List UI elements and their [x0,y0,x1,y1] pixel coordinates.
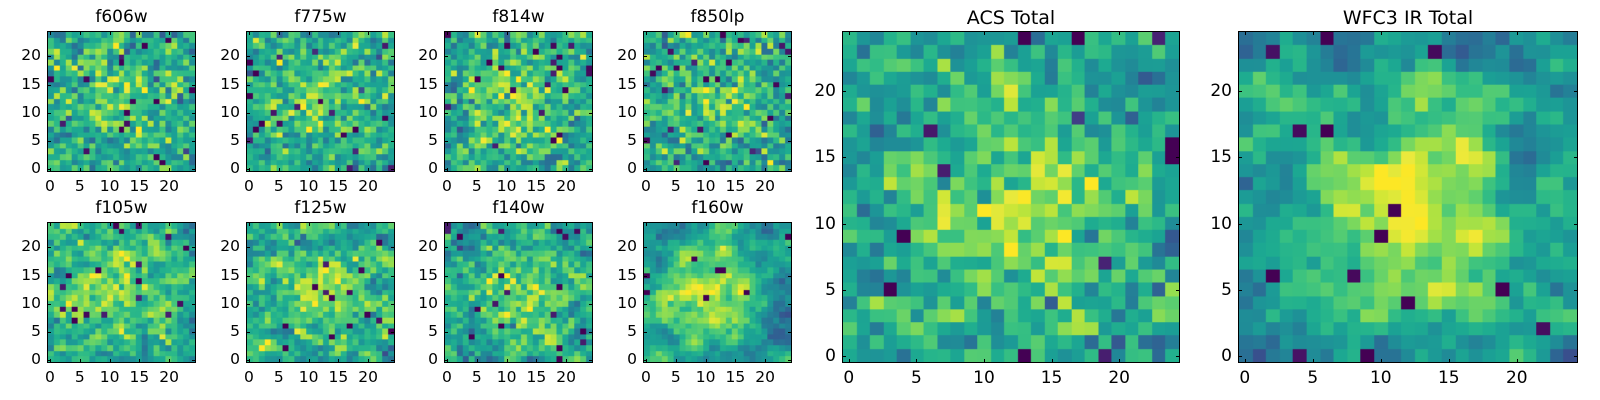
x-tick-label: 0 [829,370,869,387]
x-tick-mark [1052,359,1053,363]
y-tick-mark [47,141,51,142]
x-tick-label: 10 [1361,370,1401,387]
x-tick-mark [735,359,736,363]
y-tick-label: 15 [201,77,240,93]
y-tick-label: 0 [201,352,240,368]
y-tick-mark [589,113,593,114]
x-tick-mark [338,222,339,226]
y-tick-mark [47,332,51,333]
y-tick-label: 0 [598,161,637,177]
y-tick-mark [1176,356,1180,357]
y-tick-label: 10 [598,105,637,121]
x-tick-mark [1119,359,1120,363]
y-tick-mark [1238,91,1242,92]
x-tick-mark [80,359,81,363]
y-tick-mark [444,85,448,86]
x-tick-label: 20 [348,179,388,195]
panel-title-f125w: f125w [246,200,395,217]
panel-f606w: f606w0510152005101520 [2,5,211,206]
x-tick-mark [169,359,170,363]
y-tick-mark [788,56,792,57]
x-tick-label: 5 [1293,370,1333,387]
panel-title-f850lp: f850lp [643,9,792,26]
x-tick-mark [706,31,707,35]
y-tick-mark [391,56,395,57]
y-tick-mark [842,290,846,291]
y-tick-mark [391,276,395,277]
x-tick-mark [984,359,985,363]
y-tick-mark [47,247,51,248]
panel-title-f606w: f606w [47,9,196,26]
x-tick-mark [169,222,170,226]
y-tick-mark [643,141,647,142]
x-tick-mark [1517,31,1518,35]
y-tick-label: 15 [1193,149,1232,166]
y-tick-mark [643,304,647,305]
heatmap-axes-f814w[interactable] [444,31,593,172]
x-tick-mark [80,168,81,172]
y-tick-mark [47,85,51,86]
y-tick-mark [192,169,196,170]
x-tick-mark [916,31,917,35]
y-tick-label: 20 [2,48,41,64]
y-tick-mark [589,360,593,361]
y-tick-mark [788,113,792,114]
x-tick-label: 10 [964,370,1004,387]
x-tick-mark [477,168,478,172]
x-tick-label: 15 [1032,370,1072,387]
x-tick-mark [477,31,478,35]
heatmap-axes-acs-total[interactable] [842,31,1180,363]
heatmap-axes-f105w[interactable] [47,222,196,363]
y-tick-label: 15 [598,77,637,93]
x-tick-mark [309,359,310,363]
y-tick-mark [246,169,250,170]
x-tick-mark [279,168,280,172]
x-tick-mark [646,222,647,226]
y-tick-mark [444,360,448,361]
x-tick-mark [80,222,81,226]
x-tick-mark [279,222,280,226]
y-tick-mark [444,304,448,305]
y-tick-mark [444,276,448,277]
panel-f775w: f775w0510152005101520 [201,5,410,206]
x-tick-label: 20 [1099,370,1139,387]
y-tick-mark [1238,157,1242,158]
y-tick-label: 10 [1193,216,1232,233]
x-tick-mark [110,359,111,363]
x-tick-mark [646,31,647,35]
x-tick-mark [368,359,369,363]
y-tick-mark [589,169,593,170]
y-tick-mark [788,169,792,170]
y-tick-label: 5 [797,282,836,299]
y-tick-mark [246,360,250,361]
x-tick-mark [309,168,310,172]
y-tick-label: 20 [797,83,836,100]
y-tick-mark [643,113,647,114]
panel-f125w: f125w0510152005101520 [201,196,410,397]
panel-wfc3-ir-total: WFC3 IR Total0510152005101520 [1193,5,1593,397]
y-tick-mark [192,141,196,142]
y-tick-label: 0 [797,348,836,365]
x-tick-mark [735,31,736,35]
x-tick-mark [676,222,677,226]
y-tick-mark [391,332,395,333]
panel-title-f775w: f775w [246,9,395,26]
x-tick-mark [1381,359,1382,363]
heatmap-axes-f775w[interactable] [246,31,395,172]
y-tick-mark [192,85,196,86]
y-tick-mark [192,56,196,57]
y-tick-mark [246,85,250,86]
x-tick-mark [1052,31,1053,35]
y-tick-mark [589,85,593,86]
x-tick-mark [1245,359,1246,363]
x-tick-mark [849,359,850,363]
x-tick-mark [249,222,250,226]
y-tick-label: 5 [598,324,637,340]
y-tick-label: 15 [399,77,438,93]
heatmap-axes-wfc3-ir-total[interactable] [1238,31,1578,363]
y-tick-mark [788,141,792,142]
y-tick-mark [842,157,846,158]
x-tick-mark [139,31,140,35]
x-tick-mark [706,222,707,226]
y-tick-mark [1574,290,1578,291]
x-tick-mark [566,359,567,363]
y-tick-label: 15 [2,268,41,284]
y-tick-mark [391,360,395,361]
x-tick-label: 20 [546,370,586,386]
y-tick-mark [589,304,593,305]
panel-title-f814w: f814w [444,9,593,26]
y-tick-label: 20 [598,239,637,255]
x-tick-mark [536,222,537,226]
y-tick-mark [246,113,250,114]
y-tick-mark [788,247,792,248]
x-tick-mark [309,222,310,226]
x-tick-mark [1449,359,1450,363]
y-tick-label: 10 [797,216,836,233]
y-tick-mark [47,56,51,57]
y-tick-mark [643,56,647,57]
y-tick-label: 10 [2,105,41,121]
x-tick-mark [1313,359,1314,363]
x-tick-mark [169,168,170,172]
x-tick-label: 20 [745,370,785,386]
y-tick-label: 20 [399,239,438,255]
x-tick-mark [338,168,339,172]
x-tick-label: 5 [896,370,936,387]
x-tick-label: 20 [149,179,189,195]
y-tick-label: 20 [201,239,240,255]
y-tick-label: 10 [598,296,637,312]
x-tick-mark [1245,31,1246,35]
y-tick-mark [391,169,395,170]
y-tick-label: 10 [399,296,438,312]
x-tick-mark [139,359,140,363]
y-tick-label: 5 [598,133,637,149]
y-tick-mark [246,56,250,57]
x-tick-mark [566,31,567,35]
x-tick-mark [368,168,369,172]
x-tick-mark [676,359,677,363]
y-tick-mark [246,332,250,333]
y-tick-mark [391,85,395,86]
y-tick-mark [192,332,196,333]
x-tick-mark [447,222,448,226]
y-tick-label: 0 [399,161,438,177]
y-tick-label: 15 [2,77,41,93]
y-tick-label: 5 [399,133,438,149]
x-tick-mark [249,31,250,35]
x-tick-mark [1449,31,1450,35]
x-tick-mark [1313,31,1314,35]
panel-title-acs-total: ACS Total [842,9,1180,28]
heatmap-axes-f606w[interactable] [47,31,196,172]
y-tick-mark [788,360,792,361]
x-tick-mark [110,31,111,35]
y-tick-mark [47,113,51,114]
y-tick-label: 5 [2,133,41,149]
y-tick-mark [842,91,846,92]
y-tick-mark [1238,356,1242,357]
y-tick-label: 10 [2,296,41,312]
y-tick-mark [1574,157,1578,158]
x-tick-mark [279,359,280,363]
x-tick-mark [916,359,917,363]
y-tick-label: 5 [2,324,41,340]
y-tick-label: 0 [1193,348,1232,365]
x-tick-mark [536,359,537,363]
y-tick-label: 15 [797,149,836,166]
panel-title-f140w: f140w [444,200,593,217]
x-tick-mark [765,168,766,172]
panel-title-wfc3-ir-total: WFC3 IR Total [1238,9,1578,28]
y-tick-mark [1176,157,1180,158]
y-tick-mark [1574,224,1578,225]
y-tick-mark [589,276,593,277]
y-tick-mark [192,276,196,277]
y-tick-label: 20 [598,48,637,64]
y-tick-mark [47,360,51,361]
y-tick-mark [246,247,250,248]
y-tick-mark [842,356,846,357]
x-tick-mark [50,31,51,35]
y-tick-mark [788,304,792,305]
y-tick-mark [192,360,196,361]
y-tick-label: 10 [399,105,438,121]
y-tick-mark [246,141,250,142]
y-tick-mark [643,247,647,248]
y-tick-mark [643,276,647,277]
y-tick-mark [643,169,647,170]
x-tick-mark [477,359,478,363]
y-tick-label: 10 [201,296,240,312]
y-tick-mark [842,224,846,225]
panel-f850lp: f850lp0510152005101520 [598,5,807,206]
x-tick-mark [507,31,508,35]
y-tick-mark [444,56,448,57]
x-tick-mark [1517,359,1518,363]
x-tick-label: 20 [149,370,189,386]
x-tick-mark [676,168,677,172]
y-tick-mark [47,169,51,170]
panel-f160w: f160w0510152005101520 [598,196,807,397]
y-tick-mark [246,304,250,305]
x-tick-mark [706,168,707,172]
x-tick-mark [279,31,280,35]
y-tick-mark [391,113,395,114]
panel-title-f105w: f105w [47,200,196,217]
x-tick-mark [566,168,567,172]
y-tick-mark [391,304,395,305]
y-tick-label: 0 [2,352,41,368]
x-tick-mark [139,168,140,172]
x-tick-label: 15 [1429,370,1469,387]
y-tick-label: 20 [2,239,41,255]
heatmap-axes-f850lp[interactable] [643,31,792,172]
heatmap-axes-f160w[interactable] [643,222,792,363]
x-tick-mark [338,31,339,35]
panel-title-f160w: f160w [643,200,792,217]
y-tick-mark [589,56,593,57]
y-tick-mark [589,332,593,333]
x-tick-mark [338,359,339,363]
x-tick-mark [735,168,736,172]
y-tick-label: 20 [399,48,438,64]
y-tick-label: 15 [201,268,240,284]
y-tick-label: 5 [201,324,240,340]
x-tick-mark [477,222,478,226]
y-tick-label: 5 [399,324,438,340]
y-tick-mark [47,304,51,305]
panel-f140w: f140w0510152005101520 [399,196,608,397]
x-tick-mark [80,31,81,35]
x-tick-mark [507,359,508,363]
y-tick-mark [444,247,448,248]
x-tick-mark [139,222,140,226]
y-tick-label: 20 [1193,83,1232,100]
x-tick-label: 20 [348,370,388,386]
y-tick-label: 0 [598,352,637,368]
y-tick-mark [1574,91,1578,92]
panel-f105w: f105w0510152005101520 [2,196,211,397]
y-tick-label: 0 [399,352,438,368]
x-tick-mark [984,31,985,35]
x-tick-mark [507,222,508,226]
panel-acs-total: ACS Total0510152005101520 [797,5,1195,397]
y-tick-label: 15 [399,268,438,284]
y-tick-mark [643,360,647,361]
y-tick-label: 0 [201,161,240,177]
y-tick-mark [1574,356,1578,357]
heatmap-axes-f140w[interactable] [444,222,593,363]
y-tick-mark [1238,224,1242,225]
x-tick-mark [566,222,567,226]
y-tick-mark [788,85,792,86]
x-tick-mark [765,359,766,363]
x-tick-mark [536,168,537,172]
y-tick-label: 20 [201,48,240,64]
y-tick-mark [1176,224,1180,225]
x-tick-label: 20 [745,179,785,195]
y-tick-label: 10 [201,105,240,121]
y-tick-mark [192,247,196,248]
y-tick-label: 5 [201,133,240,149]
x-tick-mark [1381,31,1382,35]
y-tick-mark [391,141,395,142]
x-tick-mark [1119,31,1120,35]
y-tick-mark [1176,290,1180,291]
x-tick-mark [368,222,369,226]
y-tick-label: 15 [598,268,637,284]
x-tick-mark [110,222,111,226]
y-tick-mark [246,276,250,277]
figure-canvas: f606w0510152005101520f775w05101520051015… [0,0,1600,400]
y-tick-mark [589,141,593,142]
y-tick-mark [391,247,395,248]
x-tick-mark [765,31,766,35]
y-tick-mark [788,276,792,277]
panel-f814w: f814w0510152005101520 [399,5,608,206]
x-tick-mark [447,31,448,35]
x-tick-mark [706,359,707,363]
x-tick-mark [507,168,508,172]
y-tick-mark [643,85,647,86]
y-tick-mark [444,141,448,142]
y-tick-mark [192,304,196,305]
y-tick-label: 0 [2,161,41,177]
x-tick-label: 20 [1497,370,1537,387]
y-tick-mark [643,332,647,333]
x-tick-mark [368,31,369,35]
y-tick-mark [788,332,792,333]
y-tick-mark [47,276,51,277]
x-tick-mark [536,31,537,35]
x-tick-mark [50,222,51,226]
y-tick-mark [1176,91,1180,92]
x-tick-mark [765,222,766,226]
x-tick-mark [849,31,850,35]
x-tick-mark [676,31,677,35]
y-tick-mark [1238,290,1242,291]
y-tick-label: 5 [1193,282,1232,299]
y-tick-mark [444,113,448,114]
y-tick-mark [589,247,593,248]
x-tick-mark [735,222,736,226]
x-tick-mark [169,31,170,35]
heatmap-axes-f125w[interactable] [246,222,395,363]
x-tick-label: 0 [1225,370,1265,387]
y-tick-mark [192,113,196,114]
y-tick-mark [444,169,448,170]
x-tick-mark [110,168,111,172]
x-tick-mark [309,31,310,35]
x-tick-label: 20 [546,179,586,195]
y-tick-mark [444,332,448,333]
